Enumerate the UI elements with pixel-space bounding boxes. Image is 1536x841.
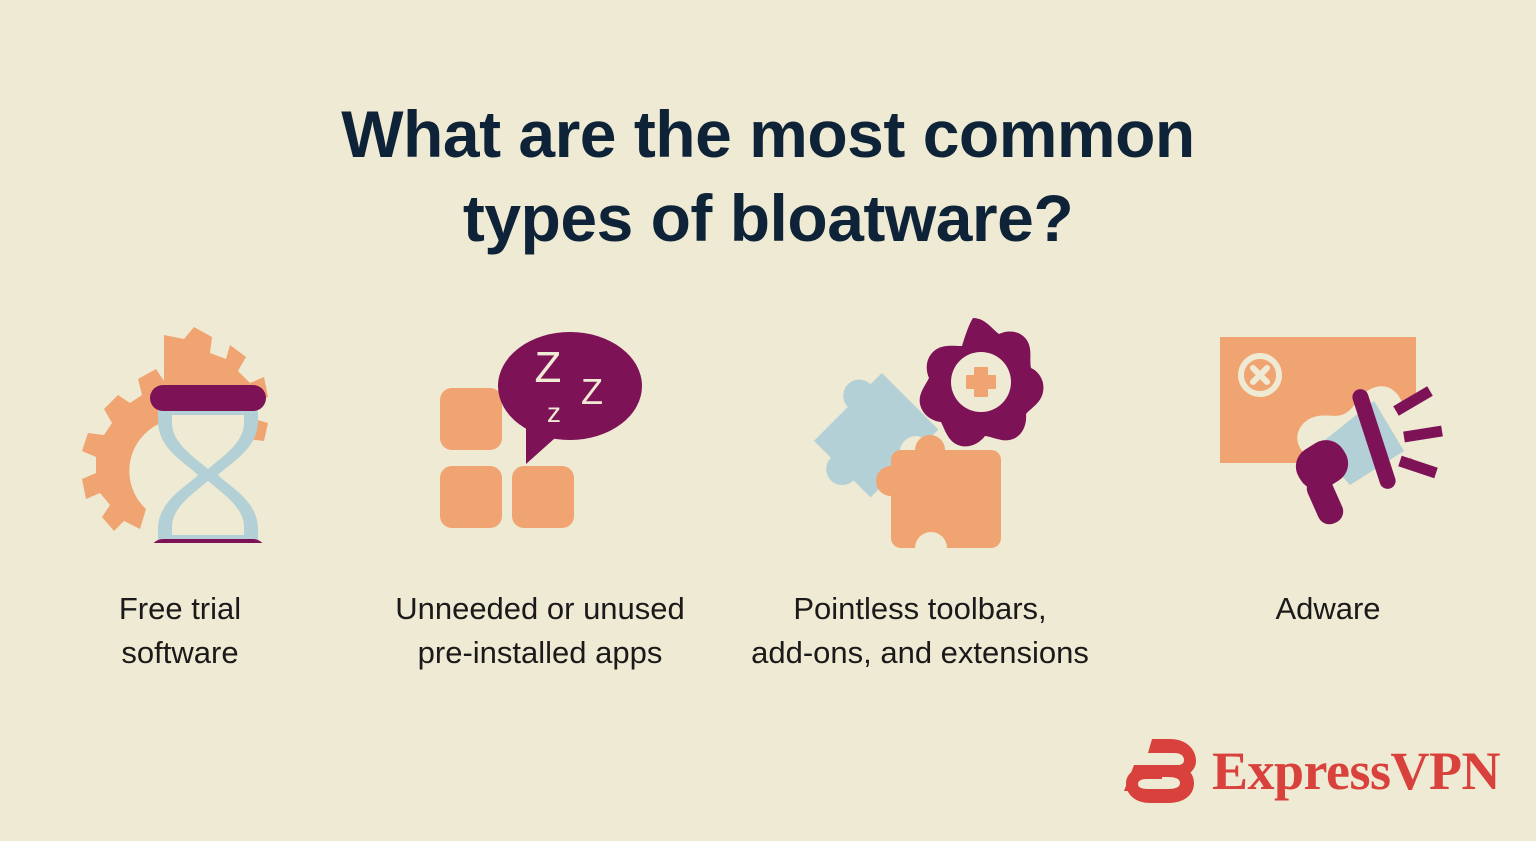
bloatware-item-toolbars-addons: Pointless toolbars, add-ons, and extensi… bbox=[720, 300, 1120, 700]
sound-line-icon bbox=[1400, 461, 1436, 473]
gear-hourglass-icon-wrap bbox=[0, 300, 360, 565]
hourglass-icon bbox=[150, 385, 266, 543]
bloatware-type-list: Free trial software Z Z bbox=[0, 300, 1536, 700]
app-tiles-sleeping-icon-wrap: Z Z z bbox=[360, 300, 720, 565]
speech-bubble-z-medium: Z bbox=[581, 371, 603, 412]
bloatware-item-caption: Pointless toolbars, add-ons, and extensi… bbox=[751, 587, 1089, 675]
bloatware-item-caption: Unneeded or unused pre-installed apps bbox=[395, 587, 685, 675]
bloatware-item-preinstalled-apps: Z Z z Unneeded or unused pre-installed a… bbox=[360, 300, 720, 700]
hourglass-bottom-cap bbox=[150, 539, 266, 543]
app-tile-icon bbox=[512, 466, 574, 528]
expressvpn-logo-mark bbox=[1122, 735, 1198, 807]
expressvpn-logo-text: ExpressVPN bbox=[1212, 744, 1500, 798]
page-title: What are the most common types of bloatw… bbox=[0, 92, 1536, 260]
expressvpn-logo[interactable]: ExpressVPN bbox=[1122, 735, 1500, 807]
speech-bubble-icon bbox=[498, 332, 642, 464]
bloatware-item-adware: Adware bbox=[1120, 300, 1536, 700]
bloatware-item-caption: Adware bbox=[1275, 587, 1380, 631]
puzzle-pieces-addon-icon-wrap bbox=[720, 300, 1120, 565]
ad-banner-megaphone-icon bbox=[1208, 325, 1448, 540]
puzzle-pieces-addon-icon bbox=[795, 310, 1045, 555]
page-title-line-2: types of bloatware? bbox=[0, 176, 1536, 260]
bloatware-item-caption: Free trial software bbox=[119, 587, 241, 675]
sound-line-icon bbox=[1404, 431, 1442, 437]
bloatware-item-free-trial: Free trial software bbox=[0, 300, 360, 700]
speech-bubble-z-small: z bbox=[547, 397, 561, 428]
infographic-canvas: What are the most common types of bloatw… bbox=[0, 0, 1536, 841]
page-title-line-1: What are the most common bbox=[0, 92, 1536, 176]
gear-hourglass-icon bbox=[80, 323, 280, 543]
app-tile-icon bbox=[440, 466, 502, 528]
app-tiles-sleeping-icon: Z Z z bbox=[430, 318, 650, 548]
app-tile-icon bbox=[440, 388, 502, 450]
ad-banner-megaphone-icon-wrap bbox=[1120, 300, 1536, 565]
gear-plus-icon bbox=[920, 318, 1044, 446]
hourglass-top-cap bbox=[150, 385, 266, 411]
speech-bubble-z-large: Z bbox=[535, 343, 562, 392]
